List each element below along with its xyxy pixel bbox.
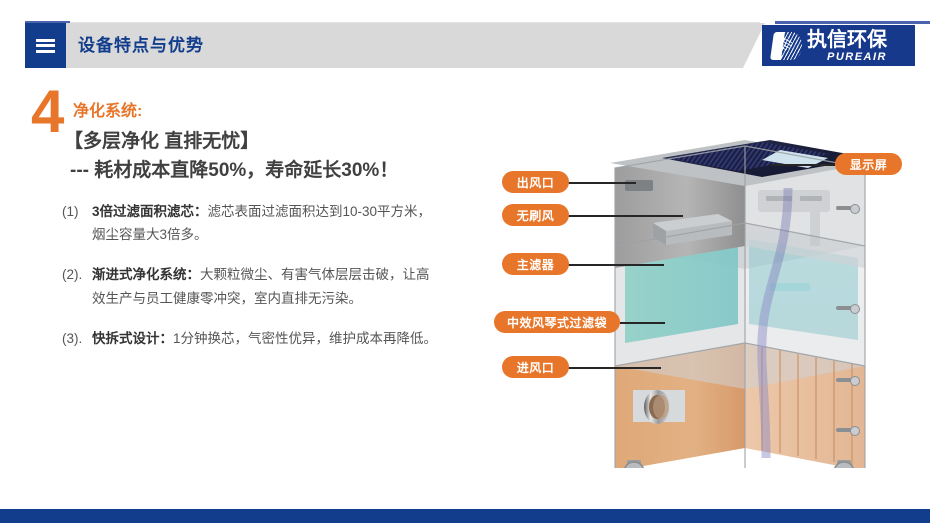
list-item: (2). 渐进式净化系统：大颗粒微尘、有害气体层层击破，让高效生产与员工健康零冲… [62, 263, 437, 309]
leader-line-brushless-fan [568, 215, 683, 217]
callout-label: 无刷风 [517, 207, 555, 224]
leader-line-bag-filter [620, 322, 665, 324]
list-item-body: 3倍过滤面积滤芯：滤芯表面过滤面积达到10-30平方米，烟尘容量大3倍多。 [92, 200, 437, 246]
header-accent-right [775, 21, 930, 24]
section-headline-line2: --- 耗材成本直降50%，寿命延长30%！ [70, 155, 398, 182]
callout-label: 出风口 [517, 174, 555, 191]
air-inlet-port [633, 390, 685, 424]
bag-filter-section [615, 343, 865, 468]
list-item-bold: 快拆式设计： [92, 331, 173, 346]
list-item-bold: 渐进式净化系统： [92, 267, 200, 282]
section-number: 4 [31, 82, 64, 142]
section-subtitle: 净化系统: [73, 97, 142, 121]
list-item-index: (1) [62, 200, 92, 246]
callout-label: 中效风琴式过滤袋 [507, 314, 607, 331]
callout-main-filter[interactable]: 主滤器 [502, 253, 569, 275]
callout-label: 主滤器 [517, 256, 555, 273]
list-item-body: 渐进式净化系统：大颗粒微尘、有害气体层层击破，让高效生产与员工健康零冲突，室内直… [92, 263, 437, 309]
callout-air-inlet[interactable]: 进风口 [502, 356, 569, 378]
callout-air-outlet[interactable]: 出风口 [502, 171, 569, 193]
page-title: 设备特点与优势 [78, 23, 204, 68]
leader-line-air-outlet [568, 182, 636, 184]
hamburger-menu-button[interactable] [25, 23, 66, 68]
callout-display-screen[interactable]: 显示屏 [835, 153, 902, 175]
callout-label: 进风口 [517, 359, 555, 376]
list-item-index: (2). [62, 263, 92, 309]
brand-logo-text: 执信环保 PUREAIR [807, 29, 887, 63]
list-item-bold: 3倍过滤面积滤芯： [92, 204, 208, 219]
leader-line-main-filter [568, 264, 664, 266]
hamburger-icon [36, 39, 55, 53]
brand-name-cn: 执信环保 [807, 29, 887, 49]
footer-bar [0, 509, 930, 523]
slide-root: 设备特点与优势 执信环保 PUREAIR 4 净化系统: 【多层净化 直排无忧】… [0, 0, 930, 523]
list-item: (1) 3倍过滤面积滤芯：滤芯表面过滤面积达到10-30平方米，烟尘容量大3倍多… [62, 200, 437, 246]
brand-logo: 执信环保 PUREAIR [762, 25, 915, 66]
list-item: (3). 快拆式设计：1分钟换芯，气密性优异，维护成本再降低。 [62, 327, 437, 350]
brand-name-en: PUREAIR [807, 52, 887, 63]
callout-label: 显示屏 [850, 156, 888, 173]
callout-brushless-fan[interactable]: 无刷风 [502, 204, 569, 226]
section-headline-line1: 【多层净化 直排无忧】 [64, 126, 259, 153]
feature-list: (1) 3倍过滤面积滤芯：滤芯表面过滤面积达到10-30平方米，烟尘容量大3倍多… [62, 200, 437, 367]
callout-medium-bag-filter[interactable]: 中效风琴式过滤袋 [494, 311, 620, 333]
leader-line-display-screen [770, 164, 835, 166]
leader-line-air-inlet [568, 367, 661, 369]
list-item-index: (3). [62, 327, 92, 350]
list-item-body: 快拆式设计：1分钟换芯，气密性优异，维护成本再降低。 [92, 327, 437, 350]
pureair-logo-icon [768, 30, 804, 62]
list-item-text: 1分钟换芯，气密性优异，维护成本再降低。 [173, 331, 437, 346]
